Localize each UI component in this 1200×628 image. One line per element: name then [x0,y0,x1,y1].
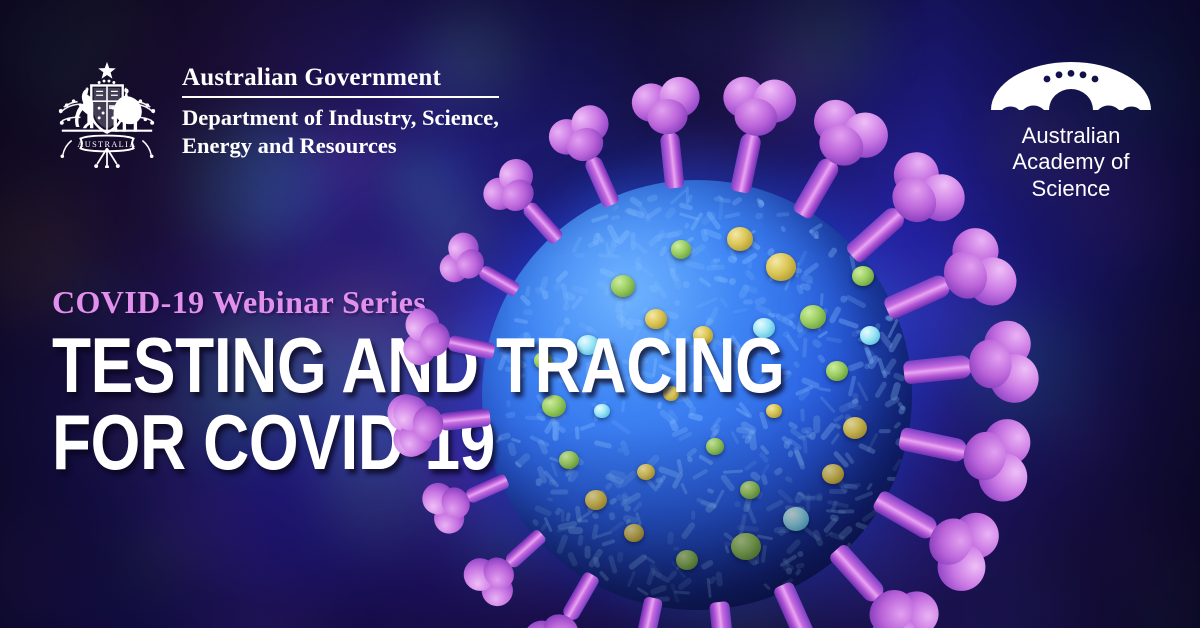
department-name-line2: Energy and Resources [182,132,499,159]
academy-name-line1: Australian [985,123,1157,149]
headline-block: COVID-19 Webinar Series TESTING AND TRAC… [52,284,945,480]
australian-government-logo: AUSTRALIA Australian Government Departme… [48,56,499,168]
australian-coat-of-arms-icon: AUSTRALIA [48,56,166,168]
svg-text:AUSTRALIA: AUSTRALIA [77,140,136,149]
shine-dome-icon [987,58,1155,114]
australian-academy-of-science-logo: Australian Academy of Science [985,58,1157,202]
government-name: Australian Government [182,65,499,92]
logo-divider [182,96,499,98]
webinar-banner: AUSTRALIA Australian Government Departme… [0,0,1200,628]
academy-logo-text: Australian Academy of Science [985,123,1157,202]
academy-name-line2: Academy of [985,149,1157,175]
government-logo-text: Australian Government Department of Indu… [182,65,499,159]
academy-name-line3: Science [985,176,1157,202]
department-name-line1: Department of Industry, Science, [182,104,499,131]
